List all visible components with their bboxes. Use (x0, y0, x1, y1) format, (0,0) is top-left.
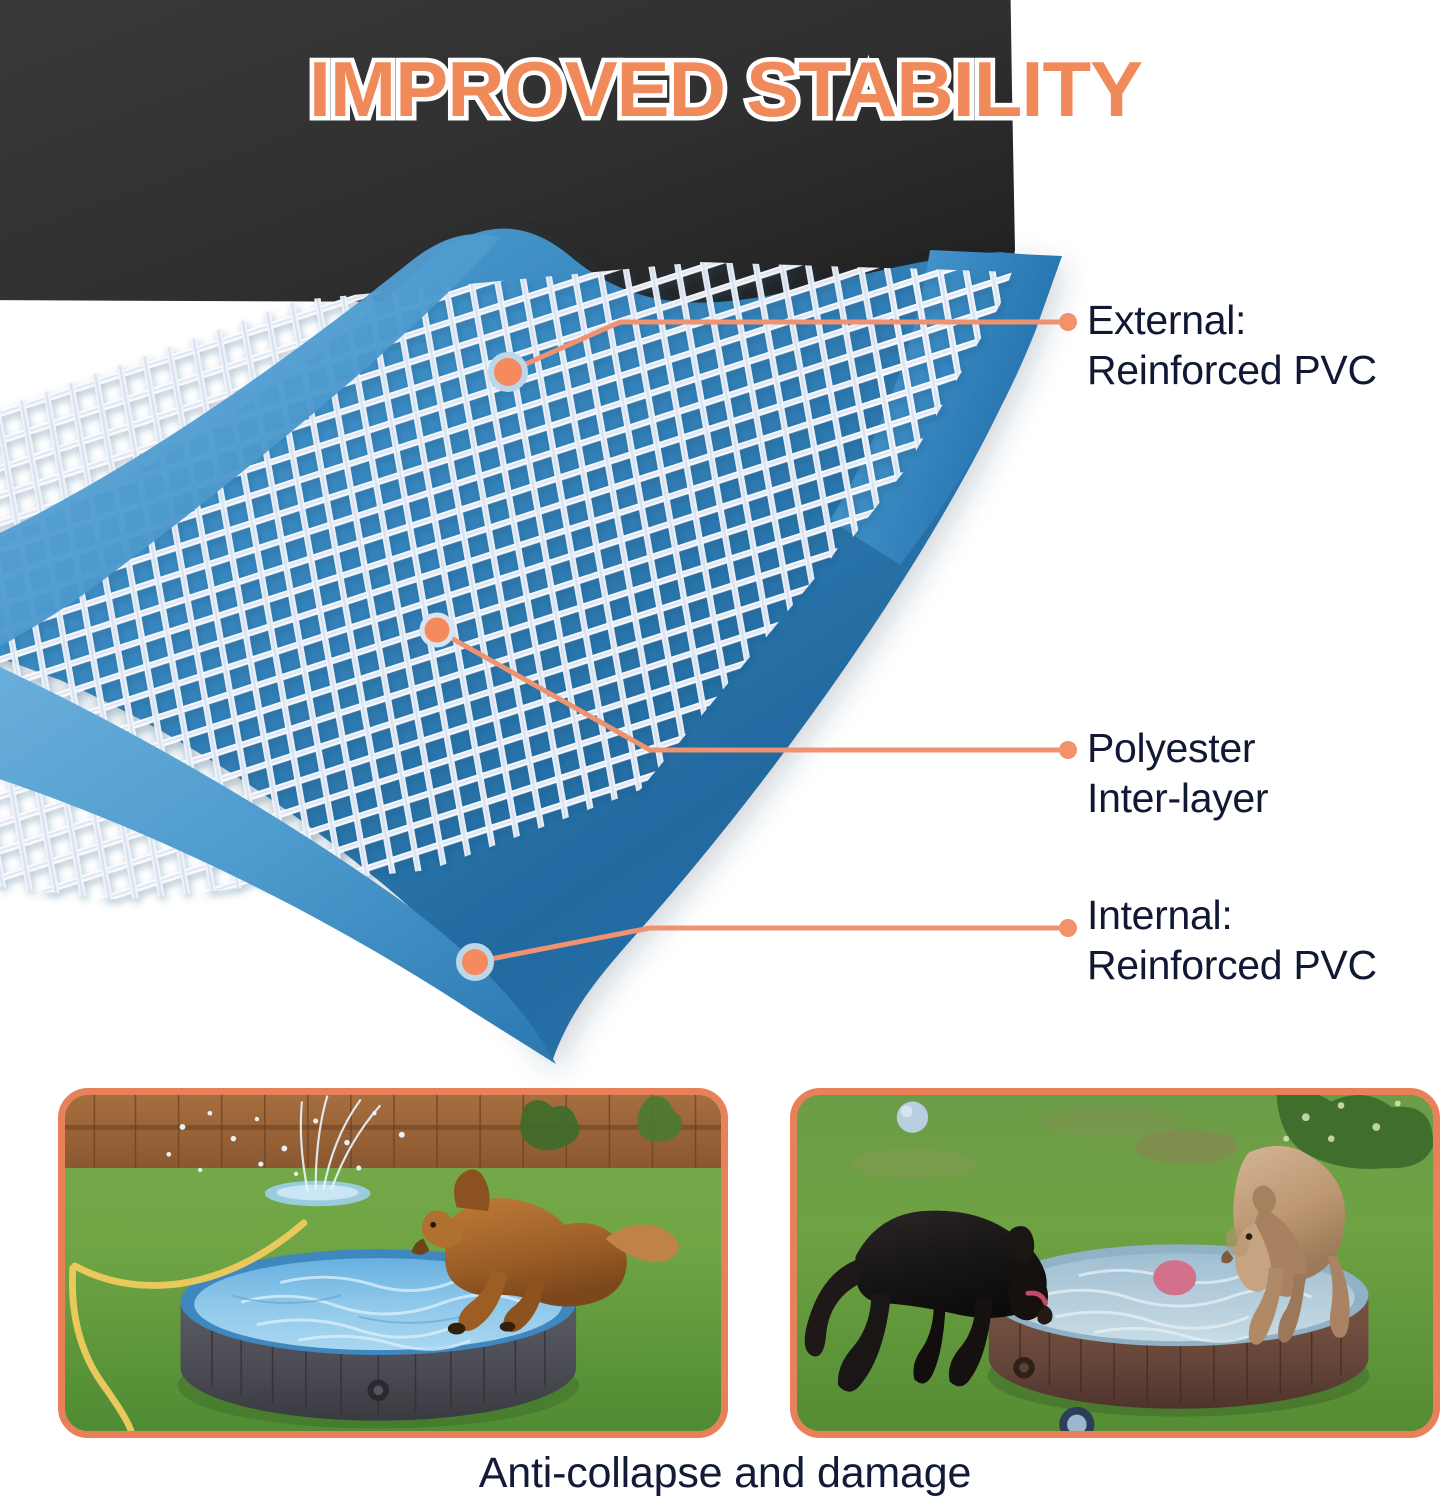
anchor-dot-polyester (422, 615, 452, 645)
photo-two-dogs-at-pool (797, 1095, 1433, 1431)
photo-card-right (790, 1088, 1440, 1438)
terminal-dot-external (1059, 313, 1077, 331)
anchor-dot-internal (459, 946, 491, 978)
terminal-dot-internal (1059, 919, 1077, 937)
bottom-caption: Anti-collapse and damage (0, 1448, 1450, 1498)
callout-label-external: External: Reinforced PVC (1087, 295, 1377, 395)
callout-label-polyester: Polyester Inter-layer (1087, 723, 1268, 823)
terminal-dot-polyester (1059, 741, 1077, 759)
photo-card-left (58, 1088, 728, 1438)
callout-terminal-dots (1059, 313, 1077, 937)
photo-gallery (0, 1088, 1450, 1440)
photo-dog-jumping-into-pool (65, 1095, 721, 1431)
callout-label-internal: Internal: Reinforced PVC (1087, 890, 1377, 990)
product-infographic: IMPROVED STABILITY External: Reinforced … (0, 0, 1450, 1500)
anchor-dot-external (491, 355, 525, 389)
